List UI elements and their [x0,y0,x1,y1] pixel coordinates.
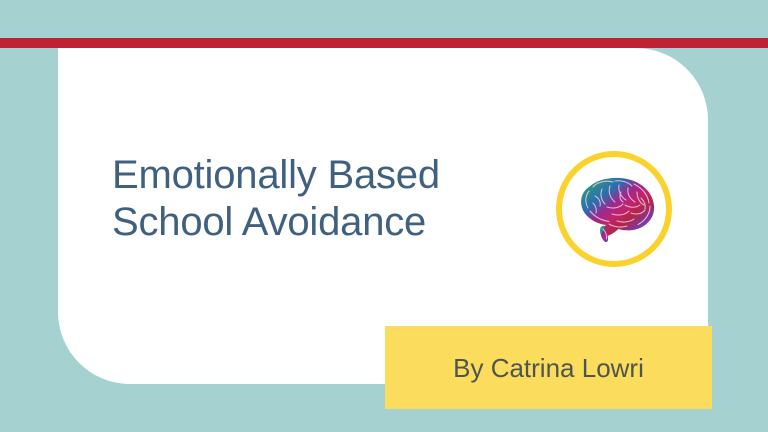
brain-icon [571,174,658,244]
slide-title-line-1: Emotionally Based [112,152,542,199]
presentation-title-slide: Emotionally Based School Avoidance [0,0,768,432]
top-red-accent-bar [0,38,768,48]
slide-title-line-2: School Avoidance [112,199,542,246]
slide-title: Emotionally Based School Avoidance [112,152,542,246]
brain-badge [556,151,672,267]
byline-text: By Catrina Lowri [453,353,644,383]
byline-banner: By Catrina Lowri [385,326,712,409]
